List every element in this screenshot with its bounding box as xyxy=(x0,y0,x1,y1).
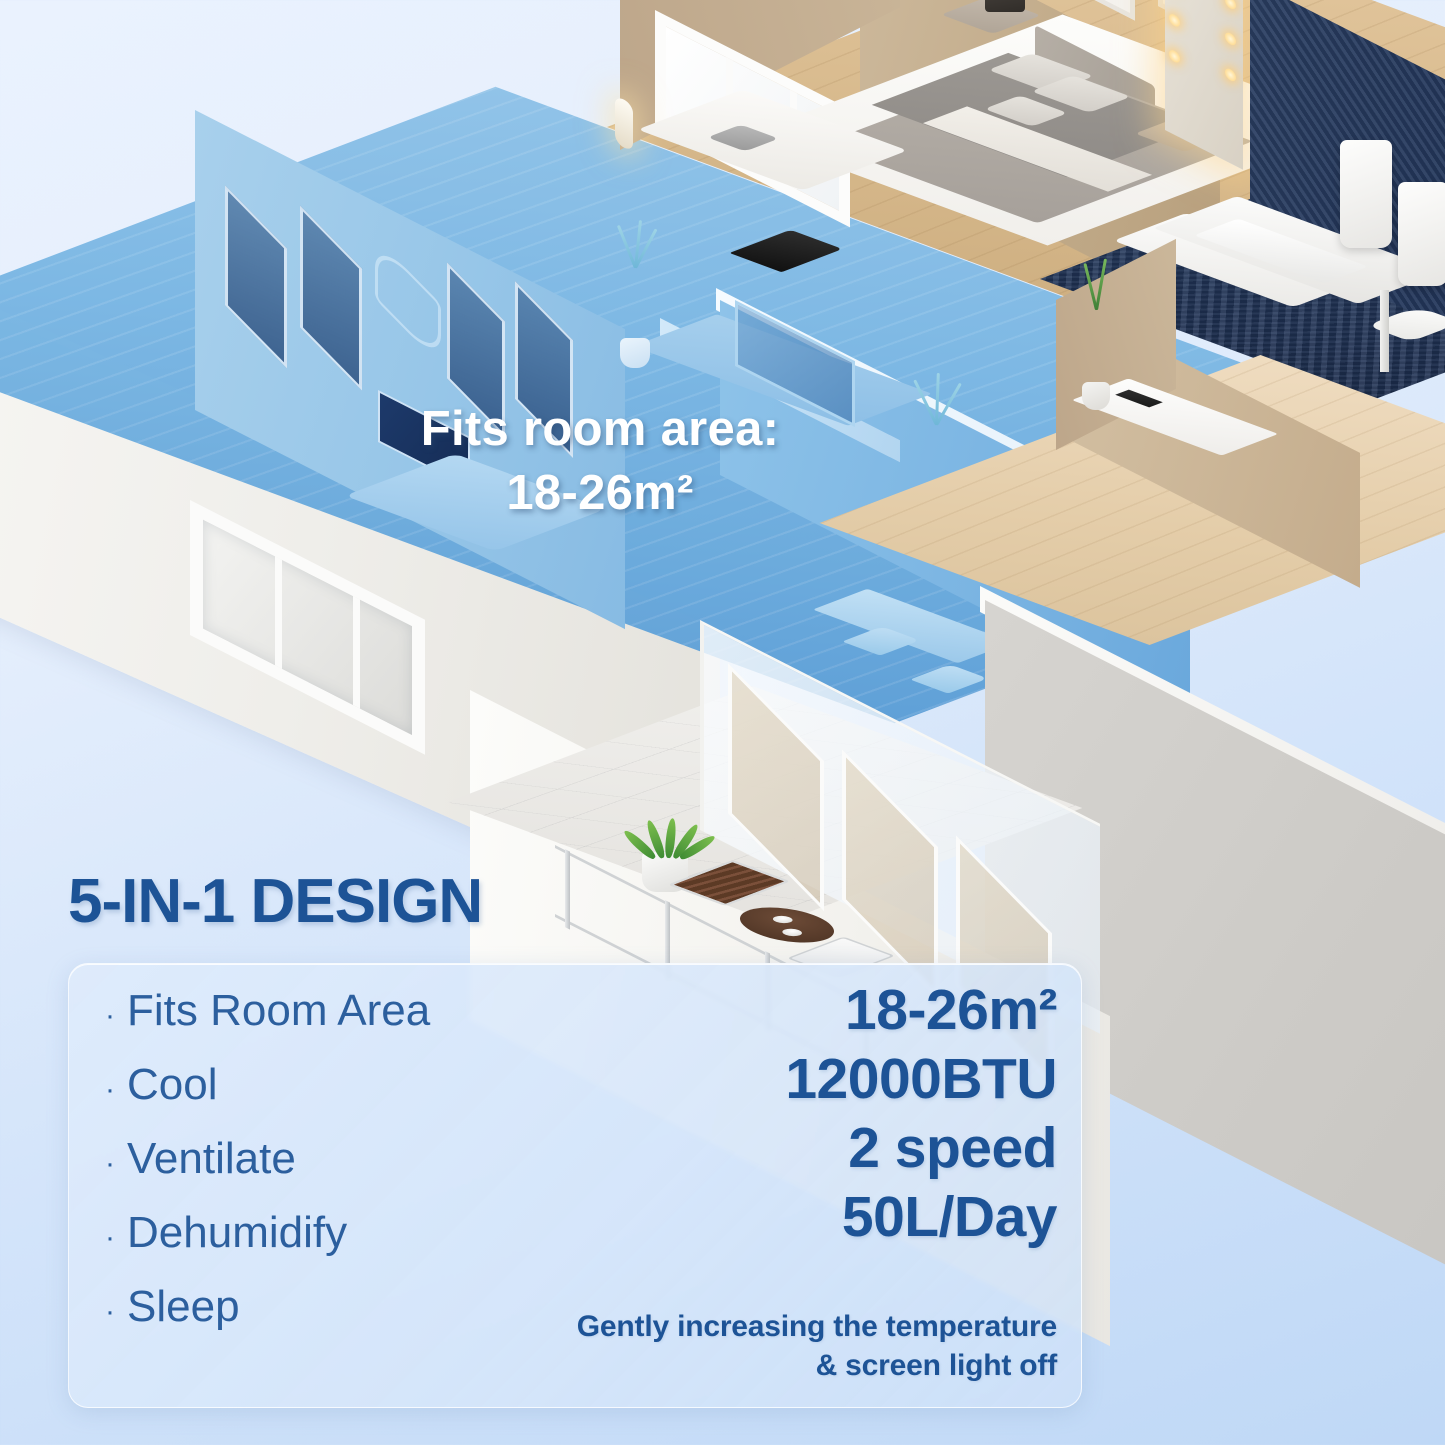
feature-label: Sleep xyxy=(127,1282,240,1332)
spec-room-area: 18-26m² xyxy=(587,976,1057,1045)
spec-fan-speed: 2 speed xyxy=(587,1114,1057,1183)
bathrobe-1 xyxy=(1340,140,1392,248)
bullet-icon: · xyxy=(105,1149,115,1179)
spec-btu: 12000BTU xyxy=(587,1045,1057,1114)
sleep-note-line-2: & screen light off xyxy=(377,1347,1057,1385)
spec-values: 18-26m² 12000BTU 2 speed 50L/Day xyxy=(587,976,1057,1252)
spec-dehumidify: 50L/Day xyxy=(587,1183,1057,1252)
feature-card: · Fits Room Area · Cool · Ventilate · De… xyxy=(68,963,1082,1408)
feature-label: Cool xyxy=(127,1060,218,1110)
list-item: · Fits Room Area xyxy=(105,986,605,1060)
list-item: · Dehumidify xyxy=(105,1208,605,1282)
bullet-icon: · xyxy=(105,1223,115,1253)
feature-label: Fits Room Area xyxy=(127,986,430,1036)
table-lamp-left xyxy=(985,0,1025,12)
list-item: · Ventilate xyxy=(105,1134,605,1208)
sleep-mode-note: Gently increasing the temperature & scre… xyxy=(377,1308,1057,1385)
feature-label: Dehumidify xyxy=(127,1208,347,1258)
bathrobe-2 xyxy=(1398,182,1445,286)
bullet-icon: · xyxy=(105,1075,115,1105)
bullet-icon: · xyxy=(105,1001,115,1031)
page-title: 5-IN-1 DESIGN xyxy=(68,866,482,937)
shower-column xyxy=(1380,290,1389,372)
bullet-icon: · xyxy=(105,1297,115,1327)
wall-art-swirl xyxy=(375,237,441,366)
feature-list: · Fits Room Area · Cool · Ventilate · De… xyxy=(105,986,605,1356)
feature-label: Ventilate xyxy=(127,1134,296,1184)
sleep-note-line-1: Gently increasing the temperature xyxy=(577,1310,1057,1343)
list-item: · Cool xyxy=(105,1060,605,1134)
